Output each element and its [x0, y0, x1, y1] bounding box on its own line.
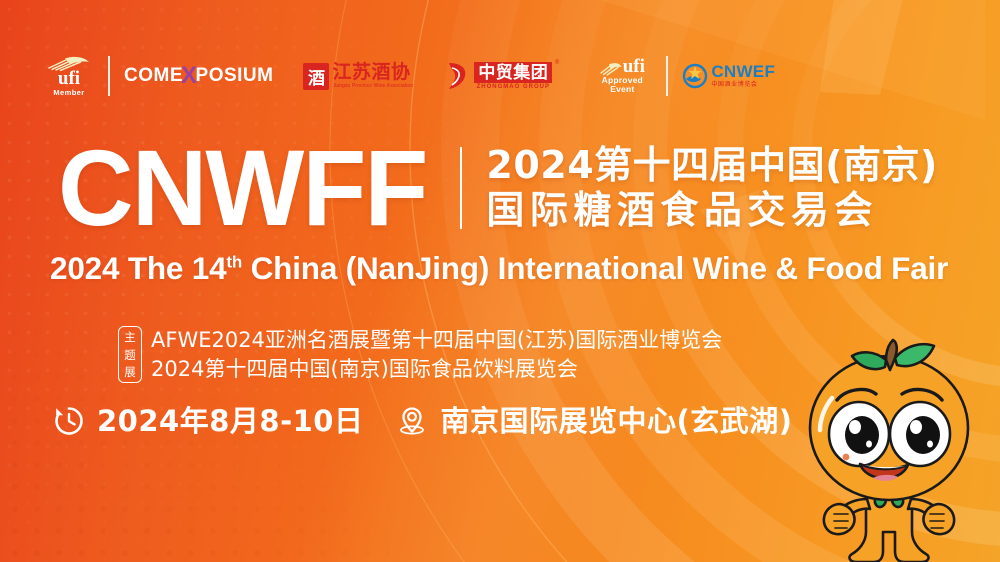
ufi-member-label: Member: [53, 88, 84, 97]
comexposium-part1: COME: [124, 65, 183, 87]
event-date-text: 2024年8月8-10日: [97, 404, 363, 438]
jiangsu-wine-association-logo[interactable]: 酒 江苏酒协 Jiangsu Province Wine Association: [303, 63, 413, 90]
ufi-approved-wing-icon: [600, 62, 622, 76]
subtitle-ordinal: th: [226, 253, 242, 272]
theme-badge-char-2: 题: [124, 348, 136, 362]
english-subtitle: 2024 The 14th China (NanJing) Internatio…: [50, 250, 948, 287]
comexposium-part2: POSIUM: [196, 65, 274, 87]
clock-icon: [52, 404, 86, 438]
registered-trademark-icon: ®: [555, 60, 559, 66]
ufi-approved-event-logo[interactable]: ufi Approved Event: [592, 58, 652, 95]
theme-exhibitions-block: 主 题 展 AFWE2024亚洲名酒展暨第十四届中国(江苏)国际酒业博览会 20…: [118, 326, 722, 383]
ufi-approved-label-line2: Event: [610, 85, 634, 95]
location-pin-icon: [395, 404, 429, 438]
cnwef-logo[interactable]: CNWEF 中国酒业博览会: [682, 63, 775, 89]
cnwef-en-name: CNWEF: [711, 63, 775, 81]
cnwef-cn-name: 中国酒业博览会: [711, 81, 775, 89]
orange-mascot: [774, 336, 1000, 562]
title-chinese: 2024第十四届中国(南京) 国际糖酒食品交易会: [486, 143, 938, 233]
title-cn-line-1: 2024第十四届中国(南京): [486, 143, 938, 188]
subtitle-suffix: China (NanJing) International Wine & Foo…: [242, 250, 948, 286]
comexposium-logo[interactable]: COME X POSIUM: [124, 62, 273, 90]
event-banner: ufi Member COME X POSIUM 酒 江苏酒协 Jiangsu …: [0, 0, 1000, 562]
theme-badge-char-3: 展: [124, 365, 136, 379]
zhongmao-cn-name: 中贸集团: [474, 62, 552, 83]
theme-line-2: 2024第十四届中国(南京)国际食品饮料展览会: [151, 355, 722, 384]
main-title-row: CNWFF 2024第十四届中国(南京) 国际糖酒食品交易会: [58, 138, 938, 238]
partner-logo-bar: ufi Member COME X POSIUM 酒 江苏酒协 Jiangsu …: [44, 50, 775, 102]
jiangsu-seal-icon: 酒: [303, 63, 329, 90]
zhongmao-group-logo[interactable]: 中贸集团 ZHONGMAO GROUP ®: [443, 61, 552, 91]
jiangsu-cn-name: 江苏酒协: [332, 63, 413, 83]
event-acronym: CNWFF: [58, 138, 426, 238]
event-venue-text: 南京国际展览中心(玄武湖): [440, 404, 792, 438]
jiangsu-en-name: Jiangsu Province Wine Association: [332, 83, 413, 89]
title-divider: [460, 147, 463, 229]
cnwef-globe-icon: [682, 63, 708, 89]
zhongmao-en-name: ZHONGMAO GROUP: [474, 83, 552, 91]
title-cn-line-2: 国际糖酒食品交易会: [486, 188, 938, 233]
logo-divider-1: [108, 56, 110, 96]
ufi-approved-wordmark: ufi: [623, 58, 645, 76]
theme-badge: 主 题 展: [118, 326, 142, 383]
ufi-wordmark: ufi: [58, 70, 80, 88]
ufi-member-logo[interactable]: ufi Member: [44, 56, 94, 97]
event-venue-item: 南京国际展览中心(玄武湖): [395, 404, 792, 438]
subtitle-prefix: 2024 The 14: [50, 250, 226, 286]
theme-badge-char-1: 主: [124, 330, 136, 344]
event-info-row: 2024年8月8-10日 南京国际展览中心(玄武湖): [52, 404, 792, 438]
zhongmao-mark-icon: [443, 61, 471, 91]
logo-divider-5: [666, 56, 668, 96]
event-date-item: 2024年8月8-10日: [52, 404, 363, 438]
theme-line-1: AFWE2024亚洲名酒展暨第十四届中国(江苏)国际酒业博览会: [151, 326, 722, 355]
